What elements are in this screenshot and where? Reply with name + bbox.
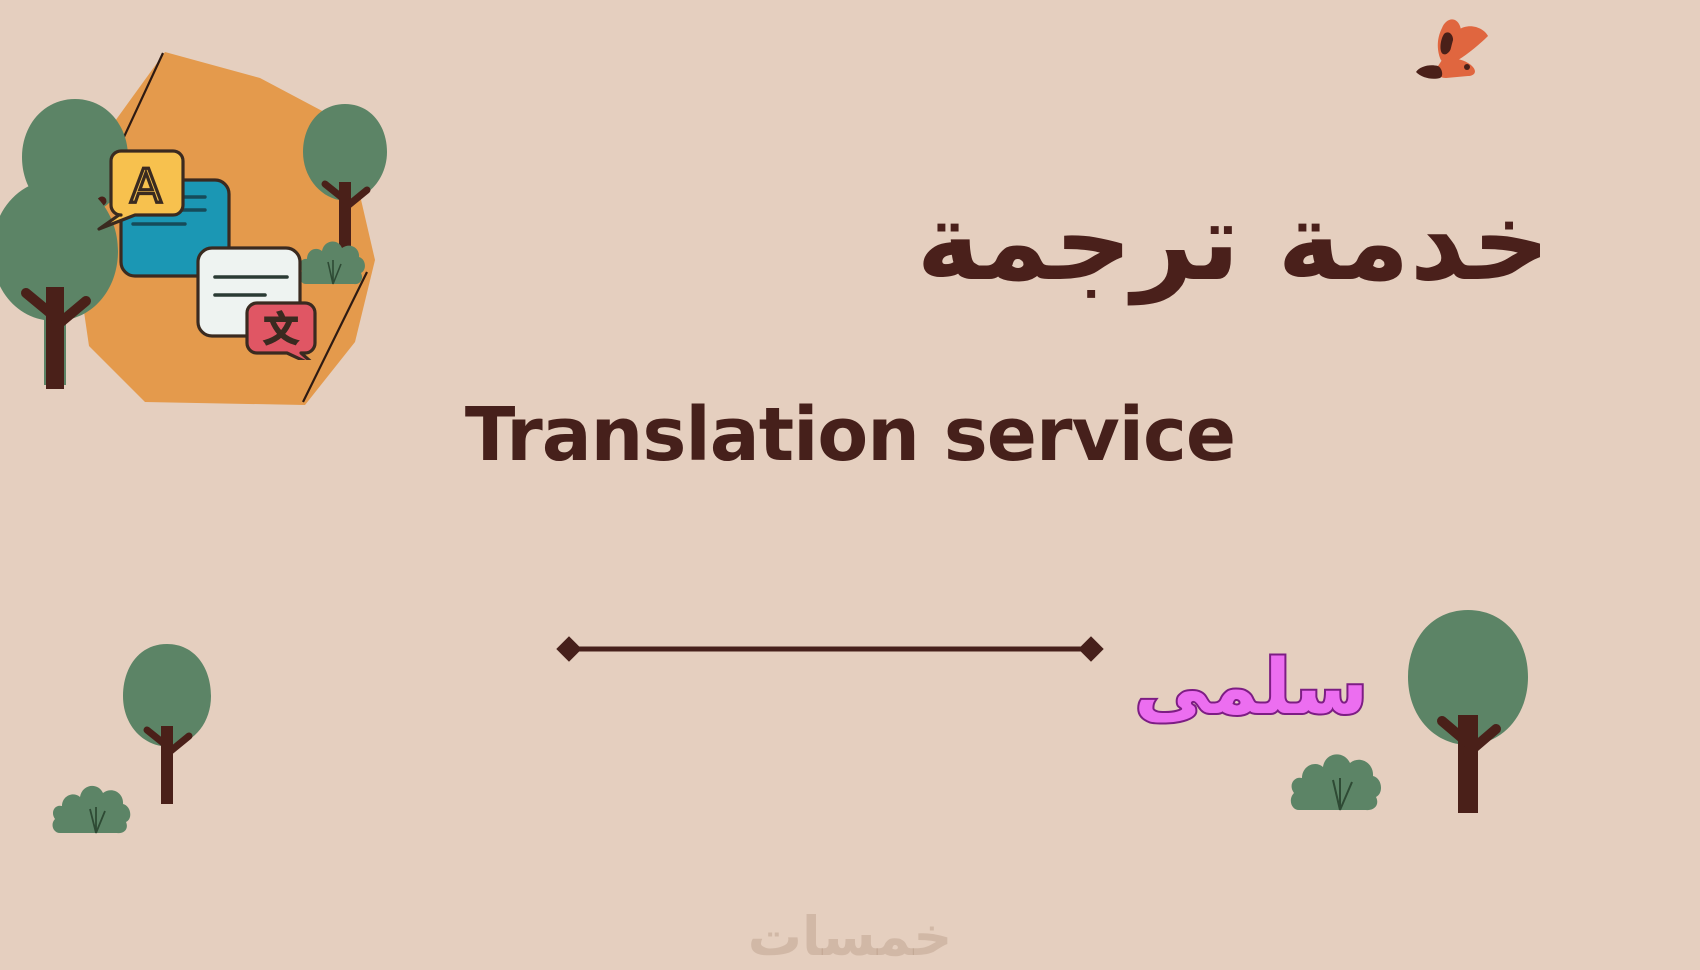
page-title-arabic: خدمة ترجمة: [0, 175, 1550, 310]
bush-bottom-right: [1288, 740, 1393, 812]
watermark-khamsat: خمسات: [0, 905, 1700, 968]
bush-bottom-left: [50, 773, 142, 835]
poster-canvas: A 文 خدمة ترجمة Translation service سلمى: [0, 0, 1700, 970]
tree-bottom-right: [1398, 605, 1538, 815]
page-title-english: Translation service: [0, 392, 1700, 478]
flying-bird-icon: [1412, 14, 1500, 102]
svg-text:文: 文: [264, 310, 298, 350]
